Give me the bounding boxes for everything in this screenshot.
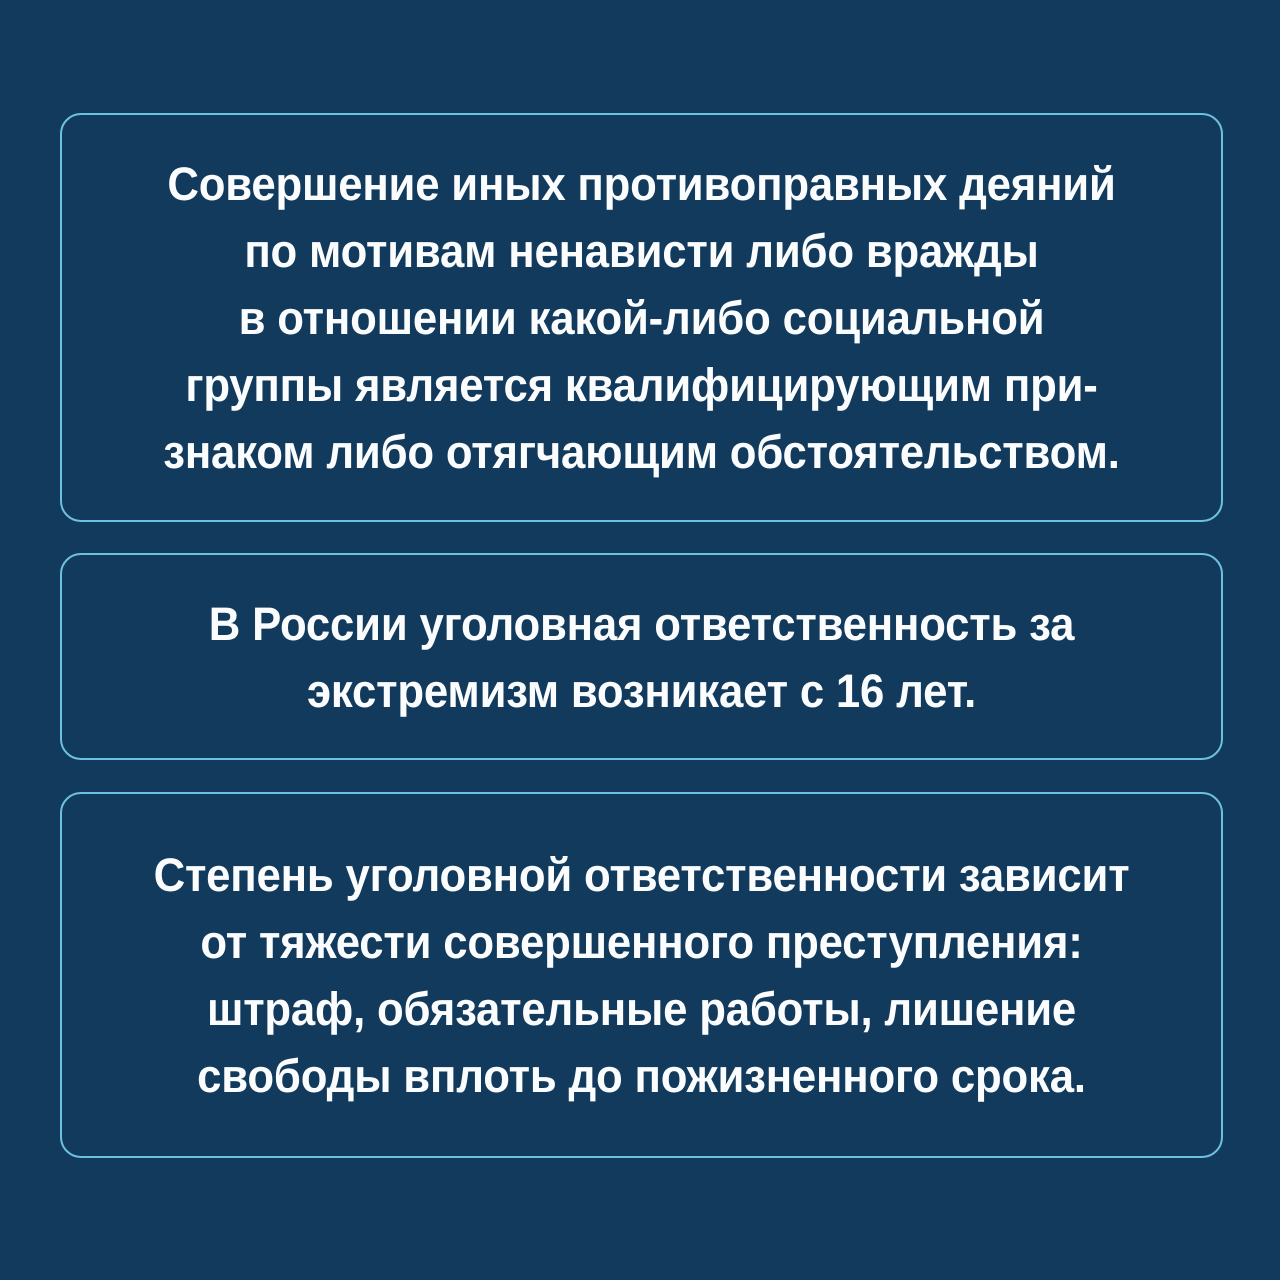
other-unlawful-acts-card: Совершение иных противоправных деяний по… — [60, 113, 1223, 522]
age-of-criminal-liability-card: В России уголовная ответственность за эк… — [60, 553, 1223, 760]
other-unlawful-acts-text: Совершение иных противоправных деяний по… — [103, 150, 1181, 485]
age-of-criminal-liability-text: В России уголовная ответственность за эк… — [103, 590, 1181, 724]
degree-of-liability-text: Степень уголовной ответственности зависи… — [103, 841, 1181, 1109]
degree-of-liability-card: Степень уголовной ответственности зависи… — [60, 792, 1223, 1158]
infographic-poster: Совершение иных противоправных деяний по… — [0, 0, 1280, 1280]
